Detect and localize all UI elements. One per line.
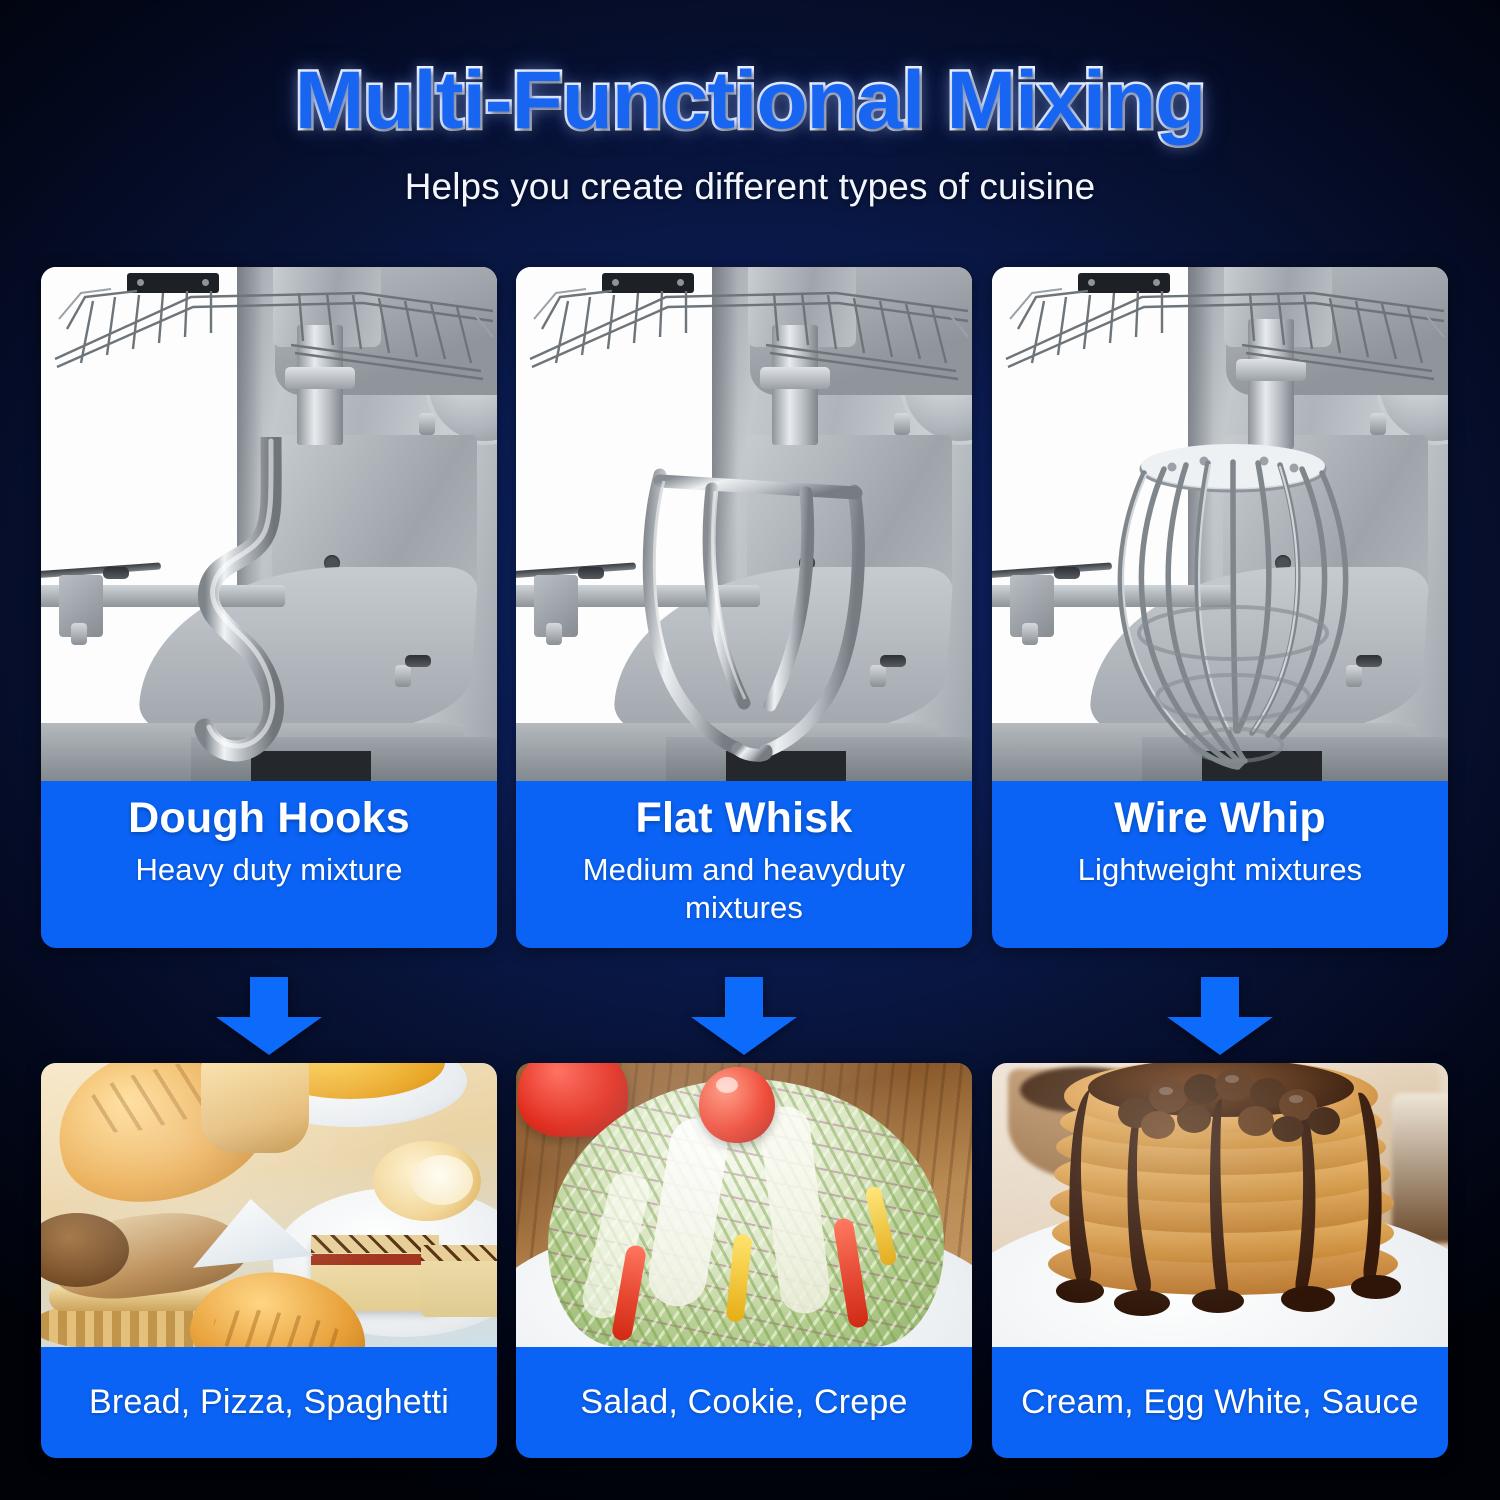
dish-card-pancakes[interactable]: Cream, Egg White, Sauce (992, 1063, 1448, 1458)
flat-whisk-icon (516, 267, 972, 781)
page-title: Multi-Functional Mixing (0, 58, 1500, 144)
attachment-name: Flat Whisk (528, 795, 960, 842)
attachment-name: Wire Whip (1004, 795, 1436, 842)
flat-beater-tool-icon (620, 467, 892, 767)
attachment-description: Heavy duty mixture (53, 851, 485, 889)
dish-caption: Bread, Pizza, Spaghetti (41, 1347, 497, 1458)
dish-card-bread[interactable]: Bread, Pizza, Spaghetti (41, 1063, 497, 1458)
dough-hook-tool-icon (153, 437, 393, 777)
chocolate-pancake-stack-photo (992, 1063, 1448, 1347)
bowl-guard-icon (516, 267, 972, 417)
dough-hook-icon (41, 267, 497, 781)
dish-caption: Salad, Cookie, Crepe (516, 1347, 972, 1458)
attachment-description: Lightweight mixtures (1004, 851, 1436, 889)
dish-card-salad[interactable]: Salad, Cookie, Crepe (516, 1063, 972, 1458)
attachment-card-flat-whisk[interactable]: Flat Whisk Medium and heavyduty mixtures (516, 267, 972, 948)
baked-bread-pastries-photo (41, 1063, 497, 1347)
attachment-name: Dough Hooks (53, 795, 485, 842)
dish-caption: Cream, Egg White, Sauce (992, 1347, 1448, 1458)
wire-whip-tool-icon (1088, 437, 1378, 781)
page-subtitle: Helps you create different types of cuis… (0, 166, 1500, 208)
down-arrow-icon (516, 977, 972, 1055)
bowl-guard-icon (41, 267, 497, 417)
attachment-card-wire-whip[interactable]: Wire Whip Lightweight mixtures (992, 267, 1448, 948)
attachment-description: Medium and heavyduty mixtures (528, 851, 960, 927)
infographic-page: Multi-Functional Mixing Helps you create… (0, 0, 1500, 1500)
header: Multi-Functional Mixing Helps you create… (0, 0, 1500, 208)
attachment-card-dough-hooks[interactable]: Dough Hooks Heavy duty mixture (41, 267, 497, 948)
down-arrow-icon (41, 977, 497, 1055)
bowl-guard-icon (992, 267, 1448, 417)
down-arrow-icon (992, 977, 1448, 1055)
coleslaw-salad-photo (516, 1063, 972, 1347)
wire-whip-icon (992, 267, 1448, 781)
